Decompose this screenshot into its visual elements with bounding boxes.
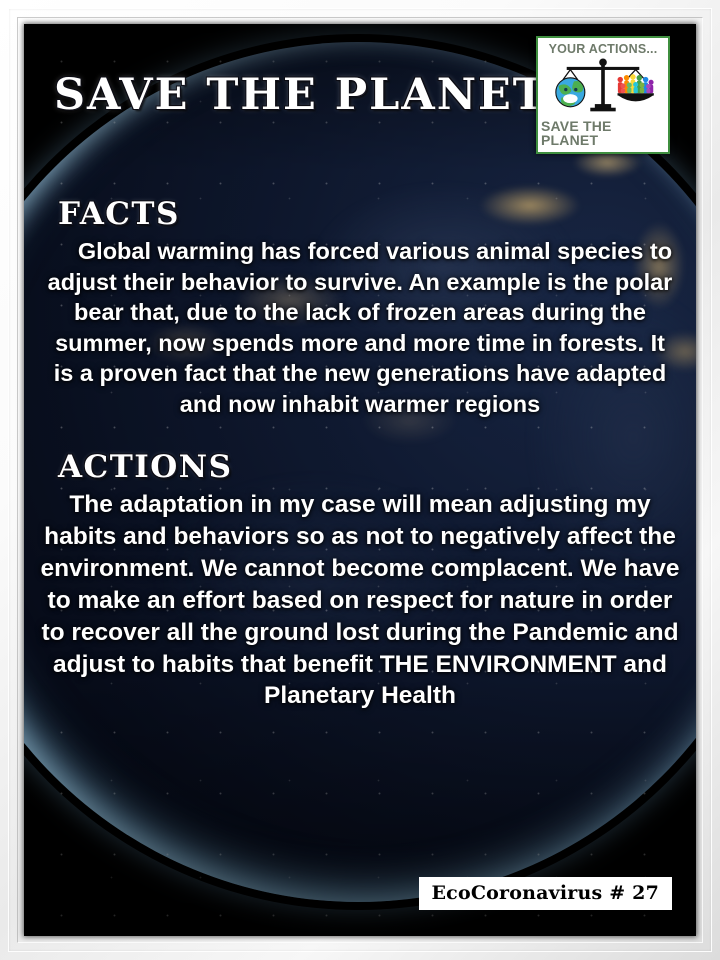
section-heading-facts: FACTS [58,196,688,232]
logo-bottom-label: SAVE THE PLANET [541,119,665,147]
logo-badge: YOUR ACTIONS... [536,36,670,154]
section-heading-actions: ACTIONS [58,449,688,485]
poster-content: SAVE THE PLANET YOUR ACTIONS... [24,24,696,936]
page-title: SAVE THE PLANET [54,70,547,120]
title-row: SAVE THE PLANET YOUR ACTIONS... [32,24,688,164]
poster-canvas: SAVE THE PLANET YOUR ACTIONS... [24,24,696,936]
footer-badge: EcoCoronavirus # 27 [419,877,673,910]
logo-top-label: YOUR ACTIONS... [549,43,658,56]
poster-root: SAVE THE PLANET YOUR ACTIONS... [0,0,720,960]
section-body-actions: The adaptation in my case will mean adju… [32,489,688,712]
people-group-icon [618,74,654,101]
section-actions: ACTIONS The adaptation in my case will m… [32,449,688,712]
section-body-facts: Global warming has forced various animal… [32,236,688,419]
section-facts: FACTS Global warming has forced various … [32,196,688,419]
earth-globe-icon [556,77,585,106]
balance-scale-icon [541,56,665,120]
